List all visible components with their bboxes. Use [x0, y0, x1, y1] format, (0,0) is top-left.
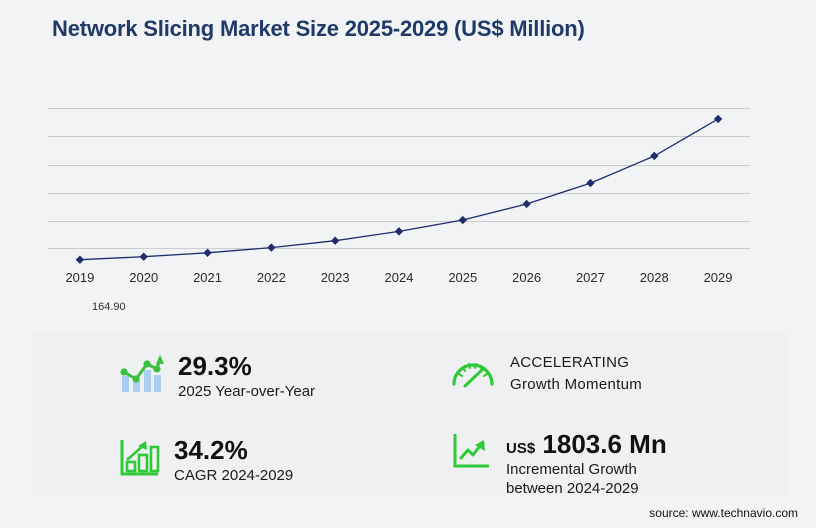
- stat-label: 2025 Year-over-Year: [178, 382, 315, 402]
- stat-value: 29.3%: [178, 352, 315, 382]
- data-point-marker: [203, 249, 211, 257]
- data-point-marker: [650, 152, 658, 160]
- stat-value: US$ 1803.6 Mn: [506, 430, 667, 460]
- data-point-marker: [140, 253, 148, 261]
- page-title: Network Slicing Market Size 2025-2029 (U…: [52, 16, 585, 42]
- x-tick: 2022: [239, 270, 303, 285]
- stat-cagr: 34.2% CAGR 2024-2029: [118, 436, 293, 485]
- data-point-marker: [586, 179, 594, 187]
- x-tick: 2023: [303, 270, 367, 285]
- data-point-marker: [395, 227, 403, 235]
- x-tick: 2026: [495, 270, 559, 285]
- data-point-marker: [267, 243, 275, 251]
- stat-label-line2: between 2024-2029: [506, 479, 667, 499]
- bar-chart-trend-icon: [118, 352, 164, 394]
- data-point-marker: [76, 256, 84, 264]
- series-markers: [76, 115, 723, 264]
- stat-growth-momentum: ACCELERATING Growth Momentum: [450, 352, 642, 396]
- line-chart: 164.90 2019 2020 2021 2022 2023 2024 202…: [0, 88, 816, 283]
- stat-year-over-year: 29.3% 2025 Year-over-Year: [118, 352, 315, 401]
- stat-label-line1: Incremental Growth: [506, 460, 667, 480]
- x-axis-labels: 2019 2020 2021 2022 2023 2024 2025 2026 …: [48, 270, 750, 285]
- x-tick: 2025: [431, 270, 495, 285]
- plot-area: [48, 108, 750, 270]
- stat-amount: 1803.6 Mn: [542, 429, 666, 459]
- x-tick: 2024: [367, 270, 431, 285]
- speedometer-icon: [450, 352, 496, 392]
- infographic-root: Network Slicing Market Size 2025-2029 (U…: [0, 0, 816, 528]
- stat-value: 34.2%: [174, 436, 293, 466]
- x-tick: 2028: [622, 270, 686, 285]
- source-attribution: source: www.technavio.com: [649, 506, 798, 520]
- data-point-marker: [714, 115, 722, 123]
- x-tick: 2020: [112, 270, 176, 285]
- series-polyline: [80, 119, 718, 260]
- x-tick: 2027: [559, 270, 623, 285]
- data-point-marker: [459, 216, 467, 224]
- first-point-value-label: 164.90: [92, 301, 126, 313]
- data-point-marker: [522, 200, 530, 208]
- x-tick: 2029: [686, 270, 750, 285]
- trend-arrow-icon: [450, 430, 492, 472]
- stats-panel: 29.3% 2025 Year-over-Year 34.2% CAGR 202…: [32, 330, 790, 495]
- x-tick: 2019: [48, 270, 112, 285]
- momentum-label: Growth Momentum: [510, 374, 642, 396]
- series-line: [48, 108, 750, 270]
- currency-unit: US$: [506, 440, 535, 457]
- momentum-state: ACCELERATING: [510, 352, 642, 374]
- data-point-marker: [331, 237, 339, 245]
- stat-incremental-growth: US$ 1803.6 Mn Incremental Growth between…: [450, 430, 667, 499]
- x-tick: 2021: [176, 270, 240, 285]
- growth-bars-icon: [118, 436, 160, 478]
- stat-label: CAGR 2024-2029: [174, 466, 293, 486]
